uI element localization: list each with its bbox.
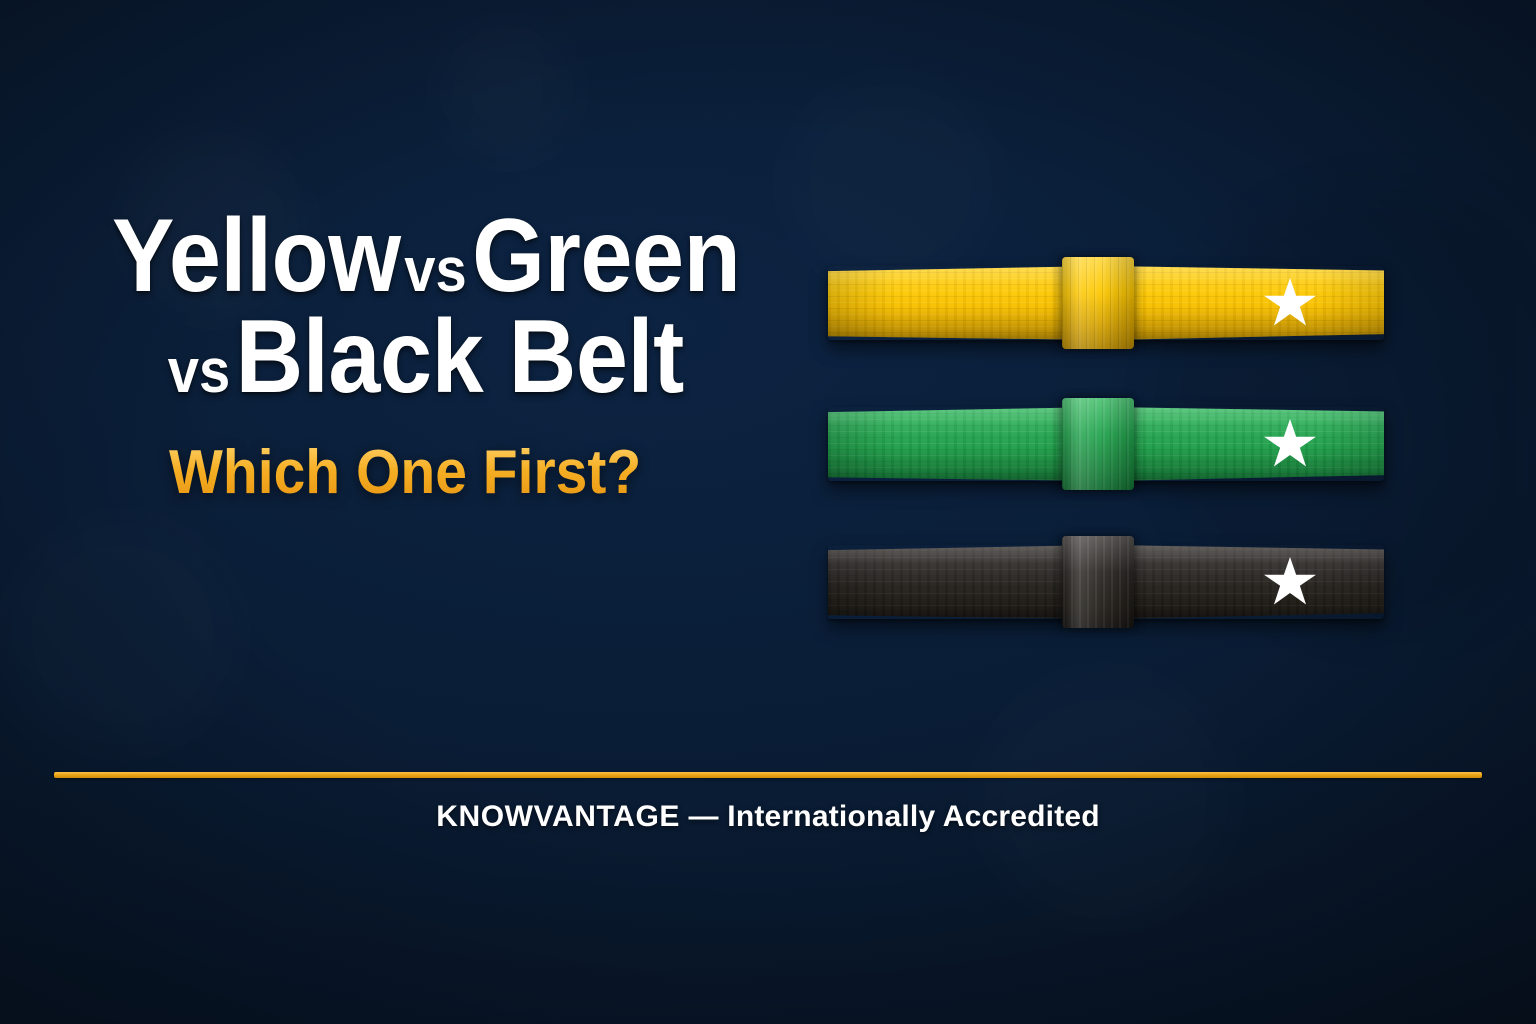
yellow-belt-knot-shading bbox=[1062, 257, 1134, 349]
footer-divider bbox=[54, 772, 1482, 778]
footer-separator: — bbox=[689, 800, 719, 833]
title-word-belt: Belt bbox=[509, 299, 684, 415]
belt-stack bbox=[828, 250, 1384, 630]
green-belt-knot bbox=[1062, 398, 1134, 490]
title-connector-vs-2: vs bbox=[168, 337, 236, 406]
black-belt-knot bbox=[1062, 536, 1134, 628]
brand-name: KNOWVANTAGE bbox=[436, 800, 680, 833]
title-line-1: YellowvsGreen bbox=[112, 206, 742, 307]
headline-block: YellowvsGreen vsBlack Belt Which One Fir… bbox=[112, 206, 812, 504]
title-word-yellow: Yellow bbox=[112, 198, 401, 314]
yellow-belt-knot bbox=[1062, 257, 1134, 349]
title-connector-vs-1: vs bbox=[401, 236, 472, 305]
title-line-2: vsBlack Belt bbox=[112, 307, 742, 408]
yellow-belt bbox=[828, 266, 1384, 340]
black-belt-knot-shading bbox=[1062, 536, 1134, 628]
black-belt bbox=[828, 545, 1384, 619]
footer-tagline: Internationally Accredited bbox=[727, 800, 1100, 833]
thumbnail-canvas: YellowvsGreen vsBlack Belt Which One Fir… bbox=[0, 0, 1536, 1024]
title-word-black: Black bbox=[236, 299, 484, 415]
green-belt bbox=[828, 407, 1384, 481]
subtitle-question: Which One First? bbox=[112, 442, 756, 504]
green-belt-knot-shading bbox=[1062, 398, 1134, 490]
footer-credit: KNOWVANTAGE — Internationally Accredited bbox=[0, 800, 1536, 834]
title-word-green: Green bbox=[472, 198, 740, 314]
